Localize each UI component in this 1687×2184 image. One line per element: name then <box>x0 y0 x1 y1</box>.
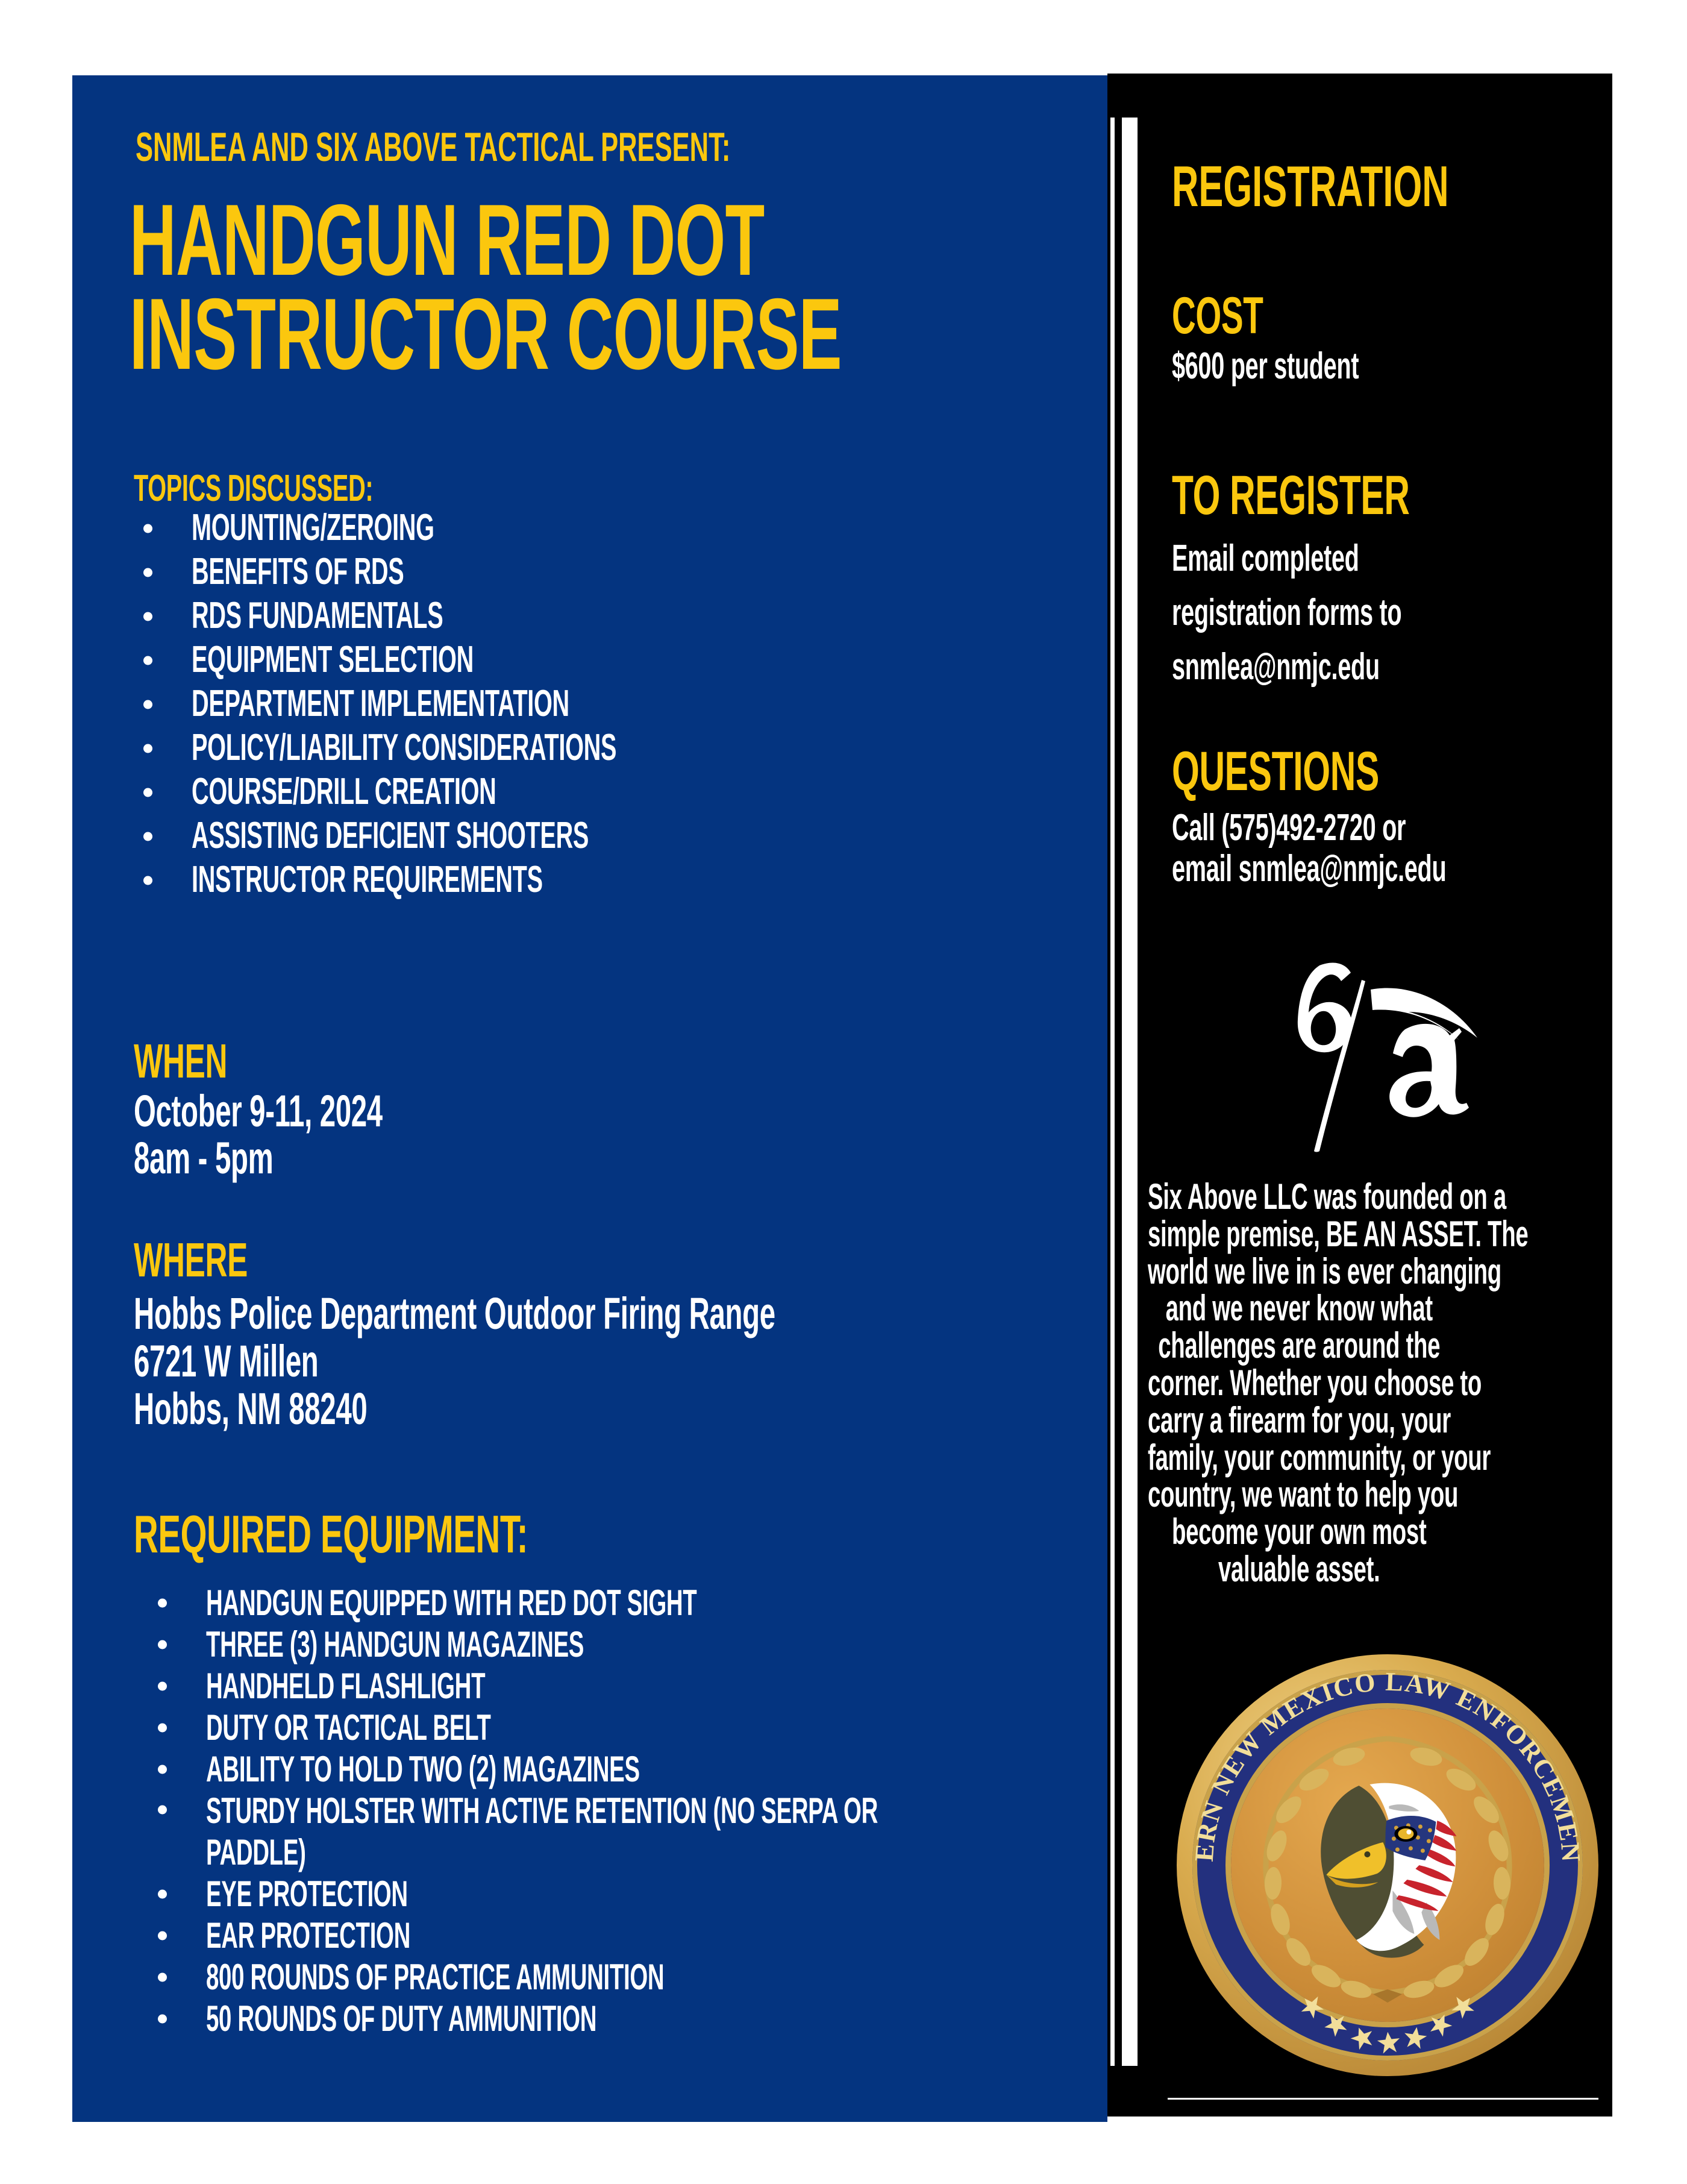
bullet-dot-icon <box>143 524 152 533</box>
questions-heading-text: QUESTIONS <box>1172 740 1379 803</box>
bullet-dot-icon <box>143 744 152 753</box>
list-item: COURSE/DRILL CREATION <box>143 770 1047 814</box>
equipment-label: STURDY HOLSTER WITH ACTIVE RETENTION (NO… <box>206 1790 878 1831</box>
list-item: INSTRUCTOR REQUIREMENTS <box>143 858 1047 902</box>
list-item: DEPARTMENT IMPLEMENTATION <box>143 682 1047 726</box>
list-item: HANDGUN EQUIPPED WITH RED DOT SIGHT <box>158 1582 1050 1624</box>
bullet-dot-icon <box>158 1931 167 1940</box>
where-street: 6721 W Millen <box>134 1337 775 1385</box>
equipment-label: 50 ROUNDS OF DUTY AMMUNITION <box>206 1998 596 2039</box>
where-details: Hobbs Police Department Outdoor Firing R… <box>134 1290 1136 1433</box>
list-item: POLICY/LIABILITY CONSIDERATIONS <box>143 726 1047 770</box>
list-item: HANDHELD FLASHLIGHT <box>158 1665 1050 1707</box>
mission-line-9: country, we want to help you <box>1148 1476 1450 1513</box>
mission-line-11: valuable asset. <box>1148 1551 1450 1588</box>
mission-line-7: carry a firearm for you, your <box>1148 1402 1450 1439</box>
page-title: HANDGUN RED DOT INSTRUCTOR COURSE <box>130 193 1242 381</box>
registration-email[interactable]: snmlea@nmjc.edu <box>1172 640 1465 694</box>
mission-line-3: world we live in is ever changing <box>1148 1253 1450 1290</box>
to-register-line-2: registration forms to <box>1172 586 1465 640</box>
presenter-line: SNMLEA AND SIX ABOVE TACTICAL PRESENT: <box>136 124 1065 171</box>
when-heading-text: WHEN <box>134 1034 227 1089</box>
topics-heading: TOPICS DISCUSSED: <box>134 467 508 510</box>
bullet-dot-icon <box>158 1889 167 1898</box>
title-line-1: HANDGUN RED DOT <box>130 193 842 287</box>
equipment-label: HANDGUN EQUIPPED WITH RED DOT SIGHT <box>206 1582 696 1624</box>
presenter-text: SNMLEA AND SIX ABOVE TACTICAL PRESENT: <box>136 124 730 171</box>
cost-value: $600 per student <box>1172 345 1464 388</box>
topics-heading-text: TOPICS DISCUSSED: <box>134 467 373 510</box>
equipment-list: HANDGUN EQUIPPED WITH RED DOT SIGHT THRE… <box>158 1582 1050 2039</box>
equipment-label: 800 ROUNDS OF PRACTICE AMMUNITION <box>206 1956 664 1998</box>
where-city-state-zip: Hobbs, NM 88240 <box>134 1385 775 1432</box>
topic-label: RDS FUNDAMENTALS <box>192 594 443 637</box>
bullet-dot-icon <box>143 832 152 841</box>
mission-line-6: corner. Whether you choose to <box>1148 1364 1450 1402</box>
seal-stars <box>1177 1654 1598 2076</box>
questions-heading: QUESTIONS <box>1172 740 1495 803</box>
topic-label: DEPARTMENT IMPLEMENTATION <box>192 682 569 725</box>
six-above-logo <box>1247 952 1500 1157</box>
equipment-label: THREE (3) HANDGUN MAGAZINES <box>206 1624 584 1665</box>
list-item: EAR PROTECTION <box>158 1915 1050 1956</box>
questions-details: Call (575)492-2720 or email snmlea@nmjc.… <box>1172 808 1601 890</box>
cost-heading-text: COST <box>1172 286 1263 346</box>
list-item: MOUNTING/ZEROING <box>143 506 1047 550</box>
topic-label: POLICY/LIABILITY CONSIDERATIONS <box>192 726 616 769</box>
where-heading-text: WHERE <box>134 1232 248 1288</box>
panel-divider-thin-line <box>1110 118 1115 2066</box>
bullet-dot-icon <box>143 788 152 797</box>
equipment-label: HANDHELD FLASHLIGHT <box>206 1665 485 1707</box>
bullet-dot-icon <box>158 2014 167 2023</box>
mission-line-10: become your own most <box>1148 1513 1450 1551</box>
topic-label: COURSE/DRILL CREATION <box>192 770 496 813</box>
bullet-dot-icon <box>143 568 152 577</box>
equipment-label-wrap: PADDLE) <box>206 1831 746 1873</box>
cost-heading: COST <box>1172 286 1315 346</box>
equipment-label: EYE PROTECTION <box>206 1873 408 1915</box>
mission-line-4: and we never know what <box>1148 1290 1450 1327</box>
topic-label: BENEFITS OF RDS <box>192 550 404 593</box>
bullet-dot-icon <box>158 1681 167 1690</box>
list-item: 800 ROUNDS OF PRACTICE AMMUNITION <box>158 1956 1050 1998</box>
title-line-2: INSTRUCTOR COURSE <box>130 287 842 381</box>
mission-statement: Six Above LLC was founded on a simple pr… <box>1148 1178 1621 1588</box>
list-item: THREE (3) HANDGUN MAGAZINES <box>158 1624 1050 1665</box>
list-item: EYE PROTECTION <box>158 1873 1050 1915</box>
topic-label: INSTRUCTOR REQUIREMENTS <box>192 858 543 901</box>
questions-phone[interactable]: Call (575)492-2720 or <box>1172 808 1446 849</box>
to-register-heading: TO REGISTER <box>1172 464 1543 527</box>
bullet-dot-icon <box>143 612 152 621</box>
when-time: 8am - 5pm <box>134 1135 383 1182</box>
topic-label: EQUIPMENT SELECTION <box>192 638 474 681</box>
where-heading: WHERE <box>134 1232 311 1288</box>
mission-line-8: family, your community, or your <box>1148 1439 1450 1476</box>
list-item: 50 ROUNDS OF DUTY AMMUNITION <box>158 1998 1050 2039</box>
when-details: October 9-11, 2024 8am - 5pm <box>134 1088 522 1182</box>
to-register-heading-text: TO REGISTER <box>1172 464 1410 527</box>
bullet-dot-icon <box>158 1598 167 1607</box>
topic-label: MOUNTING/ZEROING <box>192 506 434 549</box>
equipment-label: DUTY OR TACTICAL BELT <box>206 1707 491 1748</box>
equipment-heading-text: REQUIRED EQUIPMENT: <box>134 1504 528 1565</box>
registration-heading-text: REGISTRATION <box>1172 154 1449 220</box>
topics-list: MOUNTING/ZEROING BENEFITS OF RDS RDS FUN… <box>143 506 1047 902</box>
list-item: STURDY HOLSTER WITH ACTIVE RETENTION (NO… <box>158 1790 1050 1873</box>
equipment-heading: REQUIRED EQUIPMENT: <box>134 1504 750 1565</box>
bullet-dot-icon <box>143 700 152 709</box>
when-date: October 9-11, 2024 <box>134 1088 383 1135</box>
bullet-dot-icon <box>143 876 152 885</box>
questions-email[interactable]: email snmlea@nmjc.edu <box>1172 849 1446 890</box>
mission-line-2: simple premise, BE AN ASSET. The <box>1148 1216 1450 1253</box>
bullet-dot-icon <box>158 1806 167 1815</box>
snmlea-seal: SOUTHEASTERN NEW MEXICO LAW ENFORCEMENT … <box>1150 1627 1626 2103</box>
list-item: EQUIPMENT SELECTION <box>143 638 1047 682</box>
when-heading: WHEN <box>134 1034 280 1089</box>
cost-value-text: $600 per student <box>1172 345 1359 388</box>
list-item: DUTY OR TACTICAL BELT <box>158 1707 1050 1748</box>
flyer-poster: SNMLEA AND SIX ABOVE TACTICAL PRESENT: H… <box>0 0 1687 2184</box>
registration-heading: REGISTRATION <box>1172 154 1604 220</box>
topic-label: ASSISTING DEFICIENT SHOOTERS <box>192 814 589 857</box>
list-item: RDS FUNDAMENTALS <box>143 594 1047 638</box>
mission-line-1: Six Above LLC was founded on a <box>1148 1178 1450 1216</box>
to-register-details: Email completed registration forms to sn… <box>1172 532 1630 694</box>
list-item: ASSISTING DEFICIENT SHOOTERS <box>143 814 1047 858</box>
list-item: BENEFITS OF RDS <box>143 550 1047 594</box>
equipment-label: ABILITY TO HOLD TWO (2) MAGAZINES <box>206 1748 640 1790</box>
mission-line-5: challenges are around the <box>1148 1327 1450 1364</box>
equipment-label: EAR PROTECTION <box>206 1915 410 1956</box>
where-venue: Hobbs Police Department Outdoor Firing R… <box>134 1290 775 1337</box>
bullet-dot-icon <box>158 1723 167 1732</box>
bullet-dot-icon <box>143 656 152 665</box>
list-item: ABILITY TO HOLD TWO (2) MAGAZINES <box>158 1748 1050 1790</box>
bullet-dot-icon <box>158 1765 167 1774</box>
panel-divider-thick-line <box>1122 118 1138 2066</box>
bullet-dot-icon <box>158 1640 167 1649</box>
bullet-dot-icon <box>158 1972 167 1982</box>
to-register-line-1: Email completed <box>1172 532 1465 586</box>
